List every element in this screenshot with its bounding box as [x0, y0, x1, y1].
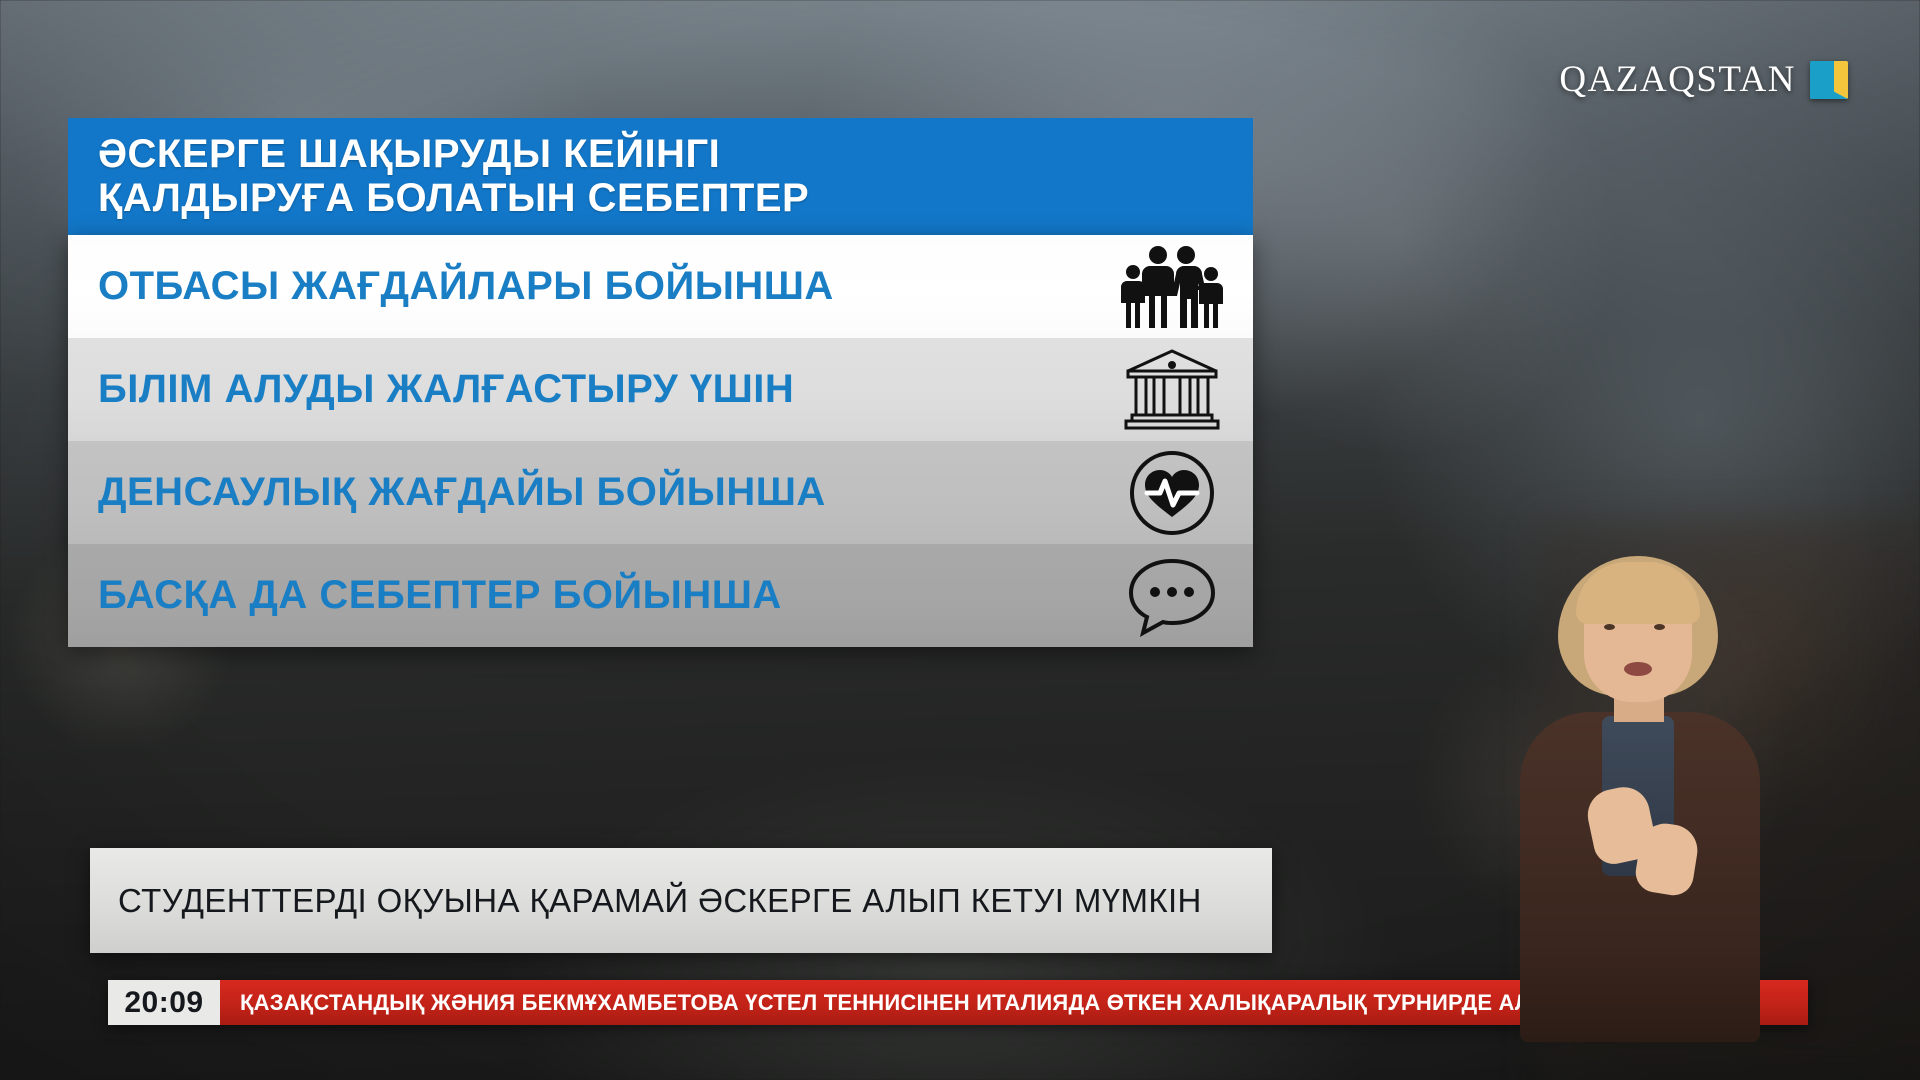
infographic-row-label: ОТБАСЫ ЖАҒДАЙЛАРЫ БОЙЫНША — [98, 264, 834, 309]
chat-ellipsis-icon — [1117, 550, 1227, 642]
infographic-header: ӘСКЕРГЕ ШАҚЫРУДЫ КЕЙІНГІ ҚАЛДЫРУҒА БОЛАТ… — [68, 118, 1253, 235]
infographic-row-label: БАСҚА ДА СЕБЕПТЕР БОЙЫНША — [98, 573, 782, 618]
infographic-row: ОТБАСЫ ЖАҒДАЙЛАРЫ БОЙЫНША — [68, 235, 1253, 338]
lower-third-caption: СТУДЕНТТЕРДІ ОҚУЫНА ҚАРАМАЙ ӘСКЕРГЕ АЛЫП… — [90, 848, 1272, 953]
family-icon — [1117, 241, 1227, 333]
channel-logo-text: QAZAQSTAN — [1559, 58, 1796, 101]
infographic-row: БАСҚА ДА СЕБЕПТЕР БОЙЫНША — [68, 544, 1253, 647]
university-building-icon — [1117, 344, 1227, 436]
sign-language-interpreter — [1498, 556, 1798, 1036]
infographic-panel: ӘСКЕРГЕ ШАҚЫРУДЫ КЕЙІНГІ ҚАЛДЫРУҒА БОЛАТ… — [68, 118, 1253, 647]
infographic-header-line1: ӘСКЕРГЕ ШАҚЫРУДЫ КЕЙІНГІ — [98, 132, 1253, 176]
clock: 20:09 — [108, 980, 220, 1025]
caption-text: СТУДЕНТТЕРДІ ОҚУЫНА ҚАРАМАЙ ӘСКЕРГЕ АЛЫП… — [90, 882, 1202, 920]
infographic-row: БІЛІМ АЛУДЫ ЖАЛҒАСТЫРУ ҮШІН — [68, 338, 1253, 441]
infographic-header-line2: ҚАЛДЫРУҒА БОЛАТЫН СЕБЕПТЕР — [98, 176, 1253, 220]
infographic-rows: ОТБАСЫ ЖАҒДАЙЛАРЫ БОЙЫНША — [68, 235, 1253, 647]
infographic-row-label: БІЛІМ АЛУДЫ ЖАЛҒАСТЫРУ ҮШІН — [98, 367, 794, 412]
kazakhstan-flag-mark-icon — [1810, 61, 1848, 99]
channel-logo: QAZAQSTAN — [1559, 58, 1848, 101]
heart-pulse-icon — [1117, 447, 1227, 539]
infographic-row-label: ДЕНСАУЛЫҚ ЖАҒДАЙЫ БОЙЫНША — [98, 470, 826, 515]
infographic-row: ДЕНСАУЛЫҚ ЖАҒДАЙЫ БОЙЫНША — [68, 441, 1253, 544]
